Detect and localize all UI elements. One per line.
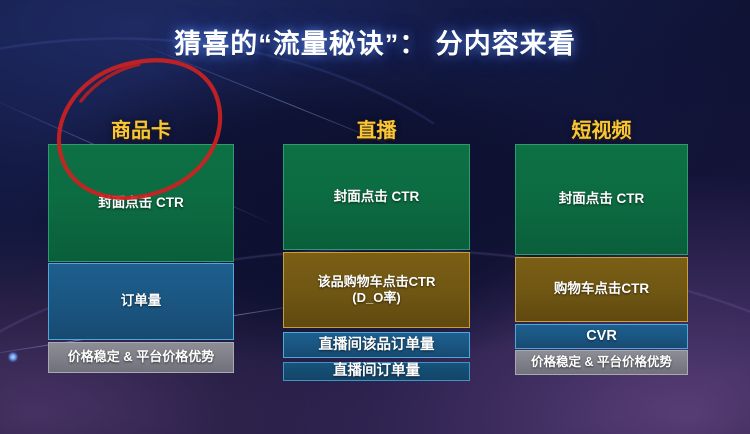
- column-header-livestream: 直播: [283, 114, 470, 143]
- metric-label: 购物车点击CTR: [554, 281, 649, 298]
- metric-block-cvr: CVR: [515, 324, 688, 349]
- metric-label: 该品购物车点击CTR: [318, 274, 436, 290]
- metric-block-live-room-orders: 直播间订单量: [283, 362, 470, 381]
- metric-block-cover-click-ctr: 封面点击 CTR: [283, 144, 470, 250]
- column-header-short-video: 短视频: [515, 114, 688, 143]
- metric-label: CVR: [586, 327, 617, 345]
- slide-title: 猜喜的“流量秘诀”： 分内容来看: [0, 22, 750, 61]
- metric-block-cart-click-ctr: 购物车点击CTR: [515, 257, 688, 322]
- column-header-product-card: 商品卡: [48, 114, 234, 143]
- metric-label: 封面点击 CTR: [98, 195, 184, 212]
- metric-label: 封面点击 CTR: [334, 189, 420, 206]
- metric-block-order-volume: 订单量: [48, 263, 234, 340]
- metric-label: 直播间该品订单量: [319, 336, 435, 354]
- metric-label: 直播间订单量: [333, 362, 420, 380]
- column-product-card: 商品卡 封面点击 CTR 订单量 价格稳定 & 平台价格优势: [48, 110, 234, 380]
- column-livestream: 直播 封面点击 CTR 该品购物车点击CTR (D_O率) 直播间该品订单量 直…: [283, 110, 470, 385]
- metric-block-cart-click-ctr: 该品购物车点击CTR (D_O率): [283, 252, 470, 328]
- metric-block-cover-click-ctr: 封面点击 CTR: [48, 144, 234, 262]
- metric-block-price-stability: 价格稳定 & 平台价格优势: [515, 350, 688, 375]
- metric-block-cover-click-ctr: 封面点击 CTR: [515, 144, 688, 255]
- column-short-video: 短视频 封面点击 CTR 购物车点击CTR CVR 价格稳定 & 平台价格优势: [515, 110, 688, 380]
- background-glow-dot: [8, 352, 18, 362]
- slide-canvas: 猜喜的“流量秘诀”： 分内容来看 商品卡 封面点击 CTR 订单量 价格稳定 &…: [0, 0, 750, 434]
- metric-block-live-item-orders: 直播间该品订单量: [283, 332, 470, 358]
- metric-label: 封面点击 CTR: [559, 191, 645, 208]
- metric-block-price-stability: 价格稳定 & 平台价格优势: [48, 342, 234, 373]
- metric-sublabel: (D_O率): [352, 290, 400, 306]
- metric-label: 价格稳定 & 平台价格优势: [68, 349, 215, 365]
- metric-label: 订单量: [121, 293, 162, 310]
- metric-label: 价格稳定 & 平台价格优势: [531, 355, 672, 371]
